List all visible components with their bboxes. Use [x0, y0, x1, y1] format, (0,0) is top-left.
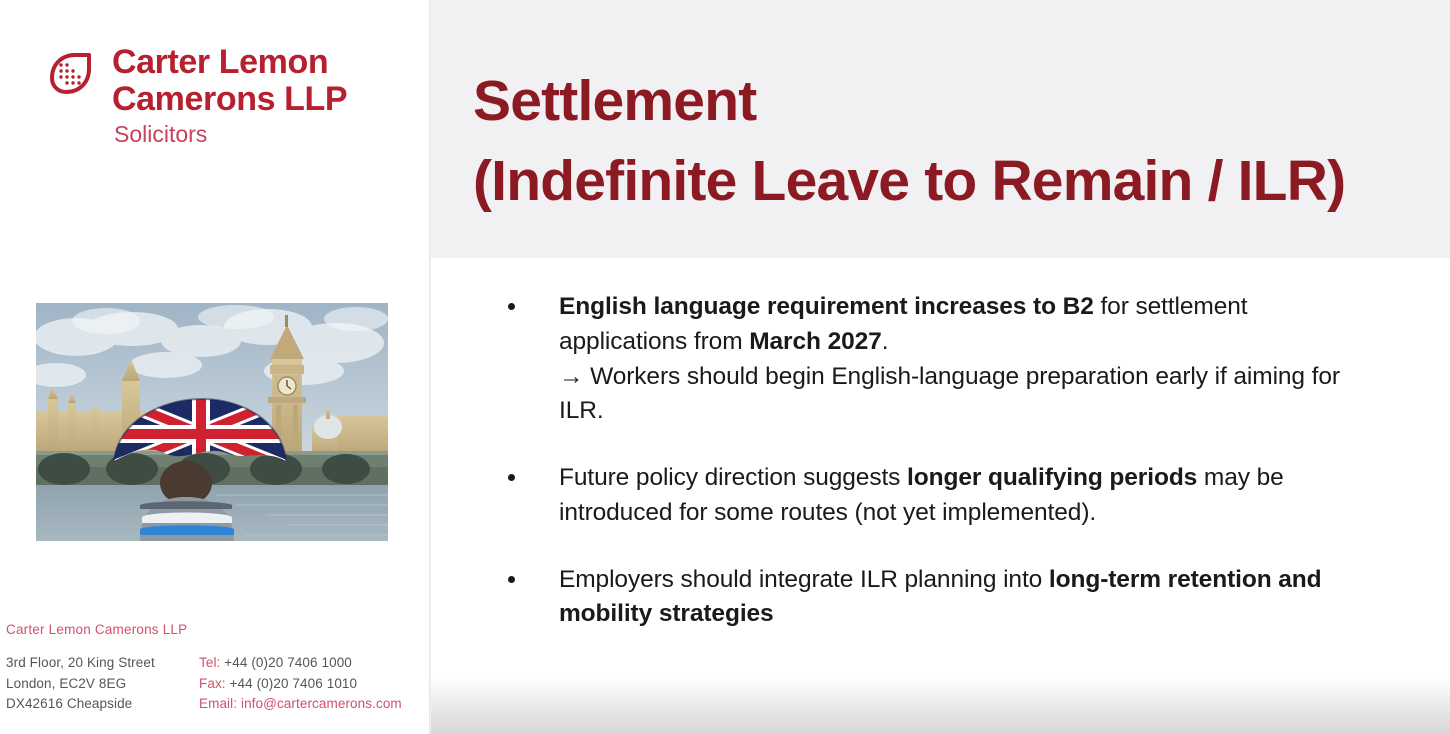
- footer-address: 3rd Floor, 20 King Street London, EC2V 8…: [6, 653, 199, 715]
- bullet-list: English language requirement increases t…: [497, 290, 1377, 632]
- bullet-dot-icon: [508, 303, 515, 310]
- bullet-sub-note: → Workers should begin English-language …: [559, 360, 1377, 430]
- contact-email-label: Email:: [199, 696, 237, 711]
- logo-line-1: Carter Lemon: [112, 44, 347, 81]
- page-title: Settlement (Indefinite Leave to Remain /…: [473, 62, 1433, 222]
- contact-fax: Fax: +44 (0)20 7406 1010: [199, 674, 428, 695]
- bullet-text: Employers should integrate ILR planning …: [559, 566, 1322, 628]
- contact-tel-value: +44 (0)20 7406 1000: [224, 655, 352, 670]
- bullet-dot-icon: [508, 474, 515, 481]
- address-line: 3rd Floor, 20 King Street: [6, 653, 199, 674]
- bullet-dot-icon: [508, 576, 515, 583]
- content-panel: Settlement (Indefinite Leave to Remain /…: [431, 0, 1450, 734]
- address-line: DX42616 Cheapside: [6, 694, 199, 715]
- footer-contact-block: Carter Lemon Camerons LLP 3rd Floor, 20 …: [4, 622, 428, 715]
- list-item: Future policy direction suggests longer …: [497, 461, 1377, 531]
- london-photo: [36, 303, 388, 541]
- contact-email: Email: info@cartercamerons.com: [199, 694, 428, 715]
- title-line-2: (Indefinite Leave to Remain / ILR): [473, 142, 1433, 222]
- contact-email-value[interactable]: info@cartercamerons.com: [241, 696, 402, 711]
- contact-tel-label: Tel:: [199, 655, 220, 670]
- address-line: London, EC2V 8EG: [6, 674, 199, 695]
- company-logo: Carter Lemon Camerons LLP Solicitors: [42, 44, 392, 149]
- logo-line-2: Camerons LLP: [112, 81, 347, 118]
- contact-fax-label: Fax:: [199, 676, 226, 691]
- left-sidebar-panel: Carter Lemon Camerons LLP Solicitors: [0, 0, 430, 734]
- bullet-text: Future policy direction suggests longer …: [559, 464, 1284, 526]
- contact-fax-value: +44 (0)20 7406 1010: [230, 676, 358, 691]
- list-item: Employers should integrate ILR planning …: [497, 563, 1377, 633]
- footer-firm-name: Carter Lemon Camerons LLP: [6, 622, 428, 637]
- logo-subtitle: Solicitors: [114, 121, 347, 149]
- contact-tel: Tel: +44 (0)20 7406 1000: [199, 653, 428, 674]
- bullet-text: English language requirement increases t…: [559, 293, 1377, 429]
- list-item: English language requirement increases t…: [497, 290, 1377, 429]
- lemon-dots-icon: [42, 48, 98, 108]
- presentation-slide: Carter Lemon Camerons LLP Solicitors: [0, 0, 1450, 734]
- title-line-1: Settlement: [473, 62, 1433, 142]
- footer-contact-details: Tel: +44 (0)20 7406 1000 Fax: +44 (0)20 …: [199, 653, 428, 715]
